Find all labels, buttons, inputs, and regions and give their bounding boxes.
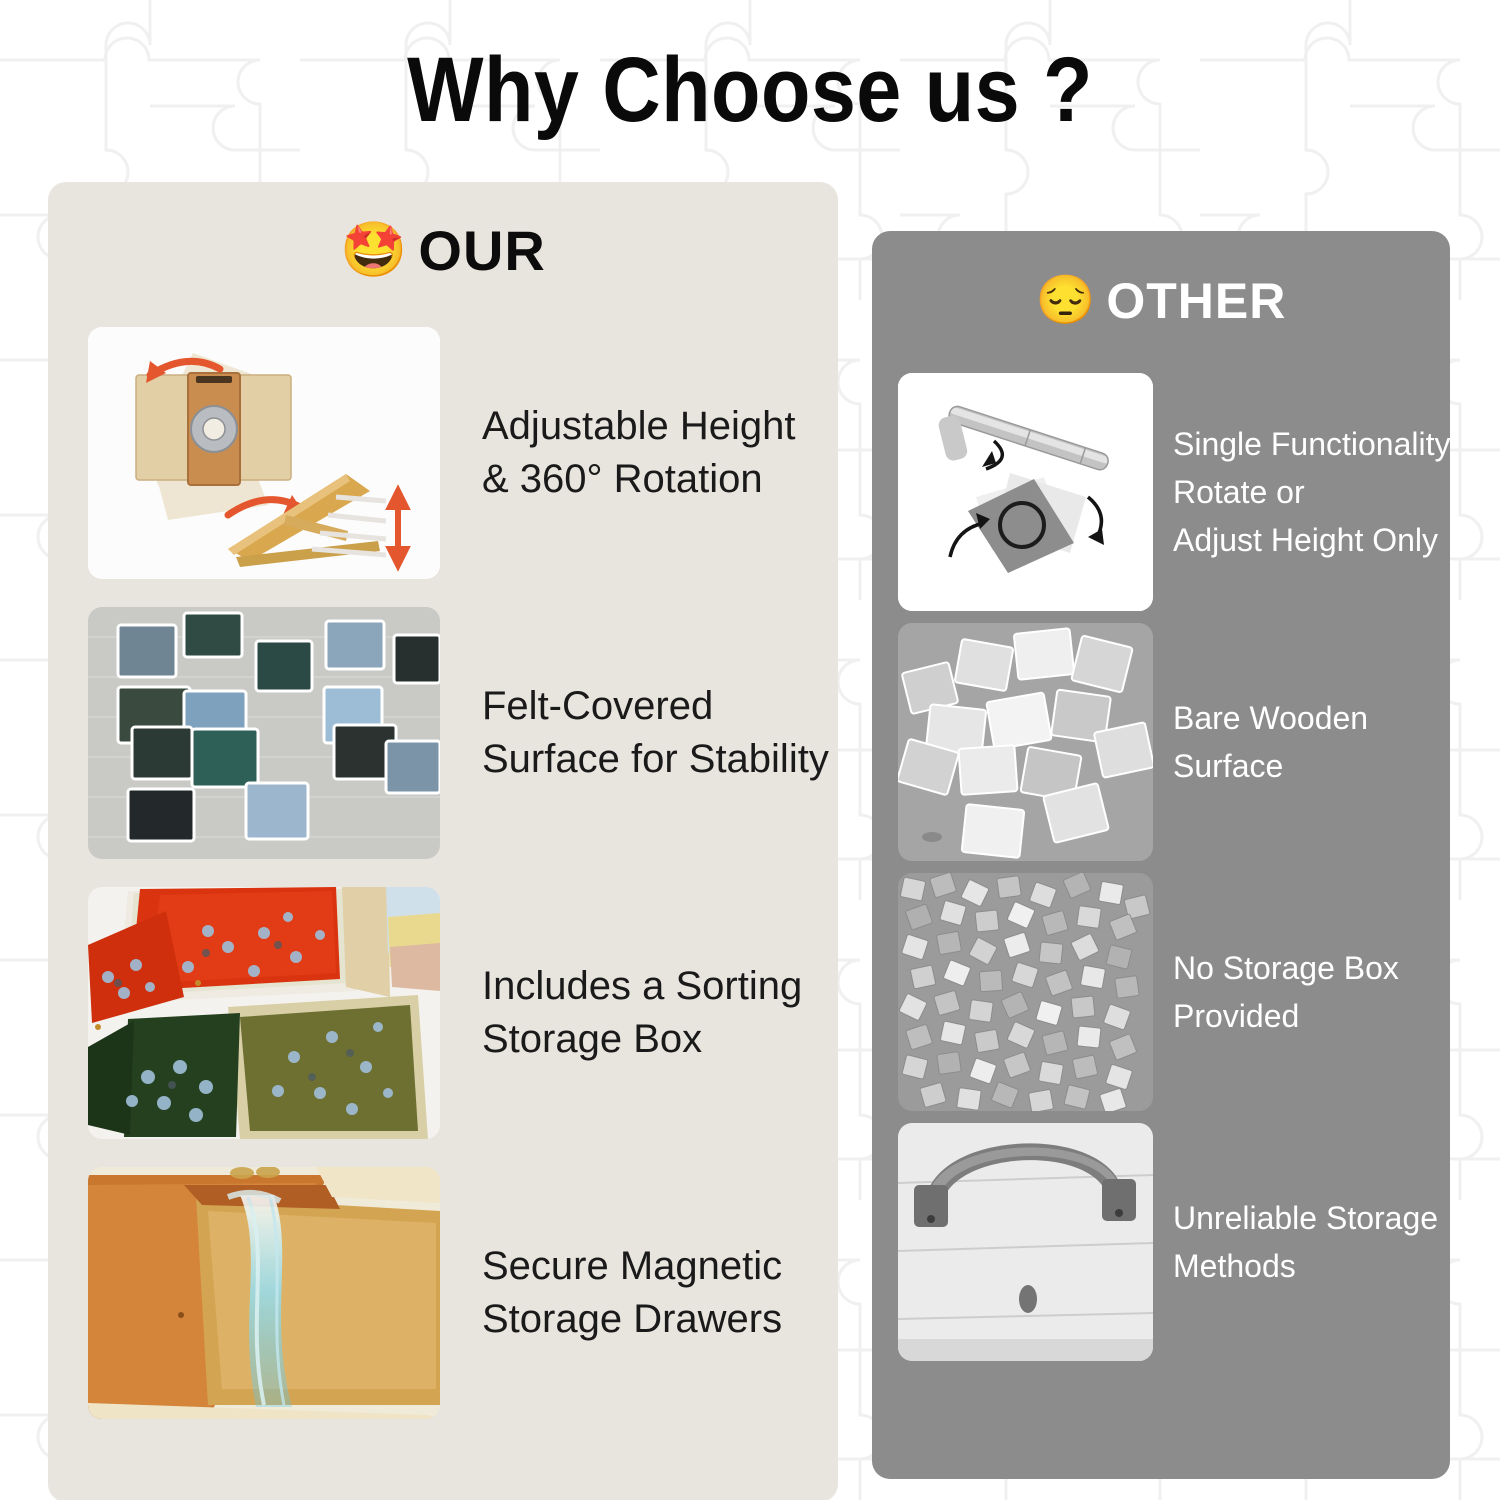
- other-feature-row-4: Unreliable Storage Methods: [898, 1123, 1438, 1361]
- our-feature-label-4: Secure Magnetic Storage Drawers: [482, 1240, 782, 1346]
- our-feature-row-1: Adjustable Height & 360° Rotation: [88, 327, 818, 579]
- our-feature-label-3: Includes a Sorting Storage Box: [482, 960, 802, 1066]
- our-panel-header: 🤩 OUR: [48, 204, 838, 296]
- our-feature-row-3: Includes a Sorting Storage Box: [88, 887, 818, 1139]
- page-title: Why Choose us ?: [90, 44, 1410, 136]
- other-panel-header: 😔 OTHER: [872, 258, 1450, 344]
- single-function-rotating-board-grayscale-image: [898, 373, 1153, 611]
- rotating-adjustable-wooden-puzzle-board-image: [88, 327, 440, 579]
- magnetic-storage-drawer-closeup-image: [88, 1167, 440, 1419]
- other-panel-title: OTHER: [1106, 272, 1286, 330]
- loose-puzzle-pieces-no-box-grayscale-image: [898, 873, 1153, 1111]
- bare-wooden-surface-puzzle-pile-grayscale-image: [898, 623, 1153, 861]
- other-feature-label-3: No Storage Box Provided: [1173, 944, 1399, 1040]
- our-feature-label-1: Adjustable Height & 360° Rotation: [482, 400, 796, 506]
- other-feature-label-1: Single Functionality: Rotate or Adjust H…: [1173, 420, 1459, 564]
- other-feature-label-4: Unreliable Storage Methods: [1173, 1194, 1438, 1290]
- other-feature-row-1: Single Functionality: Rotate or Adjust H…: [898, 373, 1438, 611]
- our-panel-title: OUR: [418, 218, 545, 283]
- our-feature-label-2: Felt-Covered Surface for Stability: [482, 680, 829, 786]
- our-feature-row-2: Felt-Covered Surface for Stability: [88, 607, 818, 859]
- unreliable-strap-storage-grayscale-image: [898, 1123, 1153, 1361]
- other-feature-label-2: Bare Wooden Surface: [1173, 694, 1368, 790]
- other-feature-row-2: Bare Wooden Surface: [898, 623, 1438, 861]
- sorting-storage-trays-red-and-green-image: [88, 887, 440, 1139]
- pensive-face-emoji: 😔: [1036, 277, 1097, 325]
- our-feature-row-4: Secure Magnetic Storage Drawers: [88, 1167, 818, 1419]
- felt-covered-surface-with-puzzle-pieces-image: [88, 607, 440, 859]
- star-struck-emoji: 🤩: [340, 223, 408, 277]
- other-feature-row-3: No Storage Box Provided: [898, 873, 1438, 1111]
